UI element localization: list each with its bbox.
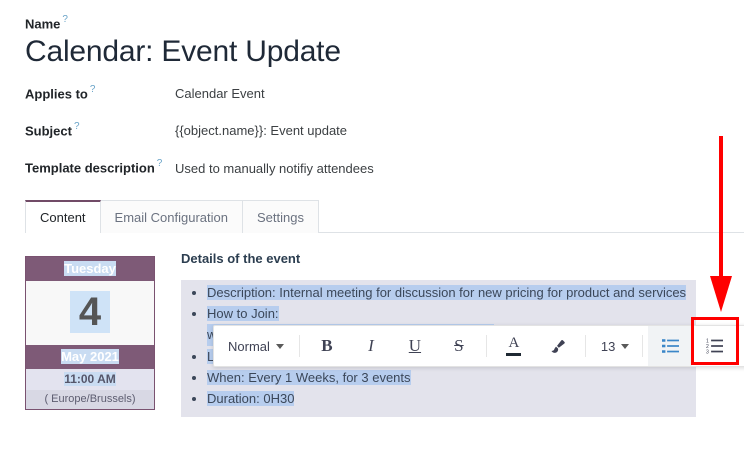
unordered-list-icon: [662, 338, 679, 354]
notebook-tabs-wrap: Content Email Configuration Settings: [0, 200, 744, 234]
toolbar-divider: [585, 335, 586, 357]
subject-label: Subject: [25, 123, 72, 138]
rich-text-toolbar[interactable]: Normal B I U S A 13: [213, 325, 744, 367]
font-color-button[interactable]: A: [492, 326, 536, 366]
paragraph-style-select[interactable]: Normal: [216, 326, 294, 366]
applies-to-label-wrap: Applies to?: [25, 84, 175, 103]
font-color-icon: A: [506, 336, 521, 356]
svg-text:3: 3: [706, 350, 709, 354]
list-item[interactable]: When: Every 1 Weeks, for 3 events: [207, 367, 696, 388]
underline-icon: U: [409, 336, 421, 356]
paintbrush-icon: [549, 338, 566, 355]
name-field-label: Name: [25, 16, 60, 31]
help-icon[interactable]: ?: [90, 84, 96, 95]
tab-settings[interactable]: Settings: [242, 200, 319, 234]
calendar-weekday-text: Tuesday: [64, 261, 116, 276]
record-form-header: Name? Calendar: Event Update Applies to?…: [0, 0, 744, 178]
italic-button[interactable]: I: [349, 326, 393, 366]
tab-email-configuration[interactable]: Email Configuration: [100, 200, 243, 234]
calendar-day-number: 4: [70, 291, 110, 333]
list-item[interactable]: Duration: 0H30: [207, 388, 696, 409]
calendar-day-wrap: 4: [26, 281, 154, 345]
strikethrough-icon: S: [454, 336, 463, 356]
toolbar-divider: [486, 335, 487, 357]
help-icon[interactable]: ?: [74, 121, 80, 132]
page-title[interactable]: Calendar: Event Update: [25, 35, 341, 68]
font-color-bar: [506, 353, 521, 356]
italic-icon: I: [368, 336, 374, 356]
bullet-duration-text: 0H30: [263, 391, 294, 406]
list-item[interactable]: Description: Internal meeting for discus…: [207, 282, 696, 303]
ordered-list-button[interactable]: 1 2 3: [692, 326, 736, 366]
bullet-how-to-join-prefix: H: [207, 306, 216, 321]
highlight-button[interactable]: [536, 326, 580, 366]
checklist-button[interactable]: [736, 326, 744, 366]
calendar-time: 11:00 AM: [26, 369, 154, 390]
unordered-list-button[interactable]: [648, 326, 692, 366]
help-icon[interactable]: ?: [157, 158, 163, 169]
calendar-month-year: May 2021: [26, 345, 154, 369]
template-description-value[interactable]: Used to manually notifiy attendees: [175, 161, 374, 176]
subject-label-wrap: Subject?: [25, 121, 175, 140]
tab-content-label: Content: [40, 210, 86, 225]
font-size-select[interactable]: 13: [591, 326, 637, 366]
field-row-template-description: Template description? Used to manually n…: [25, 158, 744, 177]
calendar-month-year-text: May 2021: [61, 349, 119, 364]
calendar-time-text: 11:00 AM: [64, 372, 116, 386]
page-title-row: Calendar: Event Update: [25, 35, 744, 70]
font-color-letter: A: [508, 336, 519, 351]
calendar-weekday: Tuesday: [26, 257, 154, 281]
calendar-timezone: ( Europe/Brussels): [26, 390, 154, 409]
bold-icon: B: [321, 336, 332, 356]
bullet-duration-prefix: Duration:: [207, 391, 263, 406]
bullet-description-text: Internal meeting for discussion for new …: [279, 285, 686, 300]
chevron-down-icon: [276, 344, 284, 349]
bullet-when-text: Every 1 Weeks, for 3 events: [248, 370, 410, 385]
tab-email-configuration-label: Email Configuration: [115, 210, 228, 225]
paragraph-style-label: Normal: [228, 339, 270, 354]
applies-to-value[interactable]: Calendar Event: [175, 86, 265, 101]
help-icon[interactable]: ?: [62, 14, 68, 25]
ordered-list-icon: 1 2 3: [706, 338, 723, 354]
subject-value[interactable]: {{object.name}}: Event update: [175, 123, 347, 138]
name-field-label-row: Name?: [25, 14, 744, 33]
toolbar-divider: [642, 335, 643, 357]
bullet-how-to-join-text: ow to Join:: [216, 306, 278, 321]
strikethrough-button[interactable]: S: [437, 326, 481, 366]
chevron-down-icon: [621, 344, 629, 349]
applies-to-label: Applies to: [25, 86, 88, 101]
field-row-applies-to: Applies to? Calendar Event: [25, 84, 744, 103]
tab-settings-label: Settings: [257, 210, 304, 225]
template-description-label-wrap: Template description?: [25, 158, 175, 177]
tab-content[interactable]: Content: [25, 200, 101, 234]
bullet-when-prefix: When:: [207, 370, 248, 385]
bullet-description-prefix: Description:: [207, 285, 279, 300]
template-description-label: Template description: [25, 161, 155, 176]
toolbar-divider: [299, 335, 300, 357]
bold-button[interactable]: B: [305, 326, 349, 366]
notebook-tabs: Content Email Configuration Settings: [25, 200, 744, 234]
event-details-heading: Details of the event: [181, 251, 744, 266]
font-size-label: 13: [601, 339, 615, 354]
underline-button[interactable]: U: [393, 326, 437, 366]
calendar-date-card: Tuesday 4 May 2021 11:00 AM ( Europe/Bru…: [25, 256, 155, 410]
field-row-subject: Subject? {{object.name}}: Event update: [25, 121, 744, 140]
